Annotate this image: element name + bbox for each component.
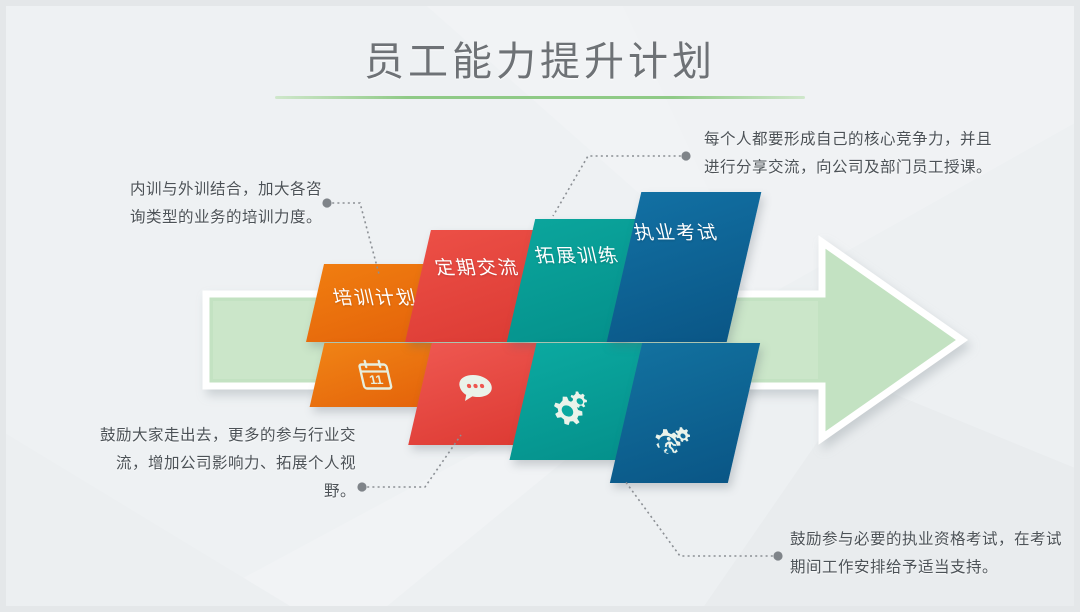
step-label-2: 定期交流 bbox=[432, 253, 522, 280]
connector-dot-1 bbox=[322, 198, 331, 207]
callout-bottom-left: 鼓励大家走出去，更多的参与行业交 流，增加公司影响力、拓展个人视 野。 bbox=[84, 422, 356, 506]
step-bar-top-4[interactable] bbox=[607, 192, 762, 342]
runner-in-gear-icon bbox=[640, 424, 698, 468]
chat-bubble-icon bbox=[452, 370, 500, 406]
connector-dot-4 bbox=[773, 551, 782, 560]
callout-top-right-line1: 每个人都要形成自己的核心竞争力，并且 bbox=[704, 126, 1014, 154]
title-underline bbox=[275, 96, 805, 99]
callout-top-left: 内训与外训结合，加大各咨 询类型的业务的培训力度。 bbox=[110, 176, 322, 232]
connector-dot-3 bbox=[681, 151, 690, 160]
callout-bottom-right-line2: 期间工作安排给予适当支持。 bbox=[790, 554, 1070, 582]
callout-top-right-line2: 进行分享交流，向公司及部门员工授课。 bbox=[704, 154, 1014, 182]
connector-line-4 bbox=[625, 481, 778, 556]
title-block: 员工能力提升计划 bbox=[0, 38, 1080, 99]
connector-dot-2 bbox=[357, 482, 366, 491]
step-label-3: 拓展训练 bbox=[532, 241, 622, 268]
page-title: 员工能力提升计划 bbox=[0, 38, 1080, 86]
callout-bottom-right-line1: 鼓励参与必要的执业资格考试，在考试 bbox=[790, 526, 1070, 554]
slide-canvas: 员工能力提升计划 培训计划 11 定期交流 bbox=[0, 0, 1080, 612]
slide-edge-bottom bbox=[0, 606, 1080, 612]
callout-top-right: 每个人都要形成自己的核心竞争力，并且 进行分享交流，向公司及部门员工授课。 bbox=[704, 126, 1014, 182]
callout-top-left-line1: 内训与外训结合，加大各咨 bbox=[110, 176, 322, 204]
step-label-4: 执业考试 bbox=[631, 218, 721, 245]
callout-bottom-left-line3: 野。 bbox=[84, 478, 356, 506]
gears-icon bbox=[541, 388, 597, 430]
step-label-1: 培训计划 bbox=[330, 283, 420, 310]
callout-bottom-right: 鼓励参与必要的执业资格考试，在考试 期间工作安排给予适当支持。 bbox=[790, 526, 1070, 582]
slide-edge-top bbox=[0, 0, 1080, 6]
calendar-day-number: 11 bbox=[368, 373, 384, 387]
callout-top-left-line2: 询类型的业务的培训力度。 bbox=[110, 204, 322, 232]
callout-bottom-left-line1: 鼓励大家走出去，更多的参与行业交 bbox=[84, 422, 356, 450]
callout-bottom-left-line2: 流，增加公司影响力、拓展个人视 bbox=[84, 450, 356, 478]
